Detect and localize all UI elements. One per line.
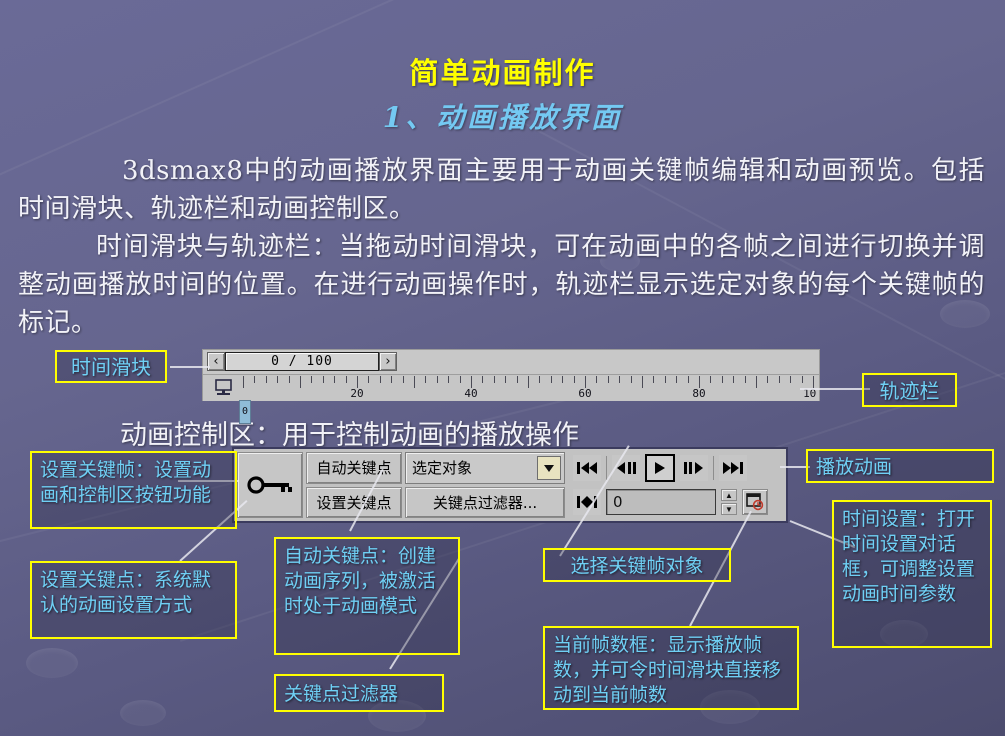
ruler-tick (756, 376, 757, 388)
paragraph-slider-track: 时间滑块与轨迹栏：当拖动时间滑块，可在动画中的各帧之间进行切换并调整动画播放时间… (18, 228, 985, 342)
ruler-tick (631, 376, 632, 383)
slide-canvas: 简单动画制作 1、动画播放界面 3dsmax8中的动画播放界面主要用于动画关键帧… (0, 0, 1005, 736)
ruler-tick (311, 376, 312, 383)
time-slider-next-arrow[interactable]: › (379, 352, 397, 371)
spinner-up-icon[interactable]: ▲ (721, 489, 737, 501)
ruler-tick (266, 376, 267, 383)
ruler-tick (688, 376, 689, 383)
ruler-tick (733, 376, 734, 383)
decor-bubble (26, 648, 78, 678)
callout-key-filters: 关键点过滤器 (274, 674, 444, 712)
time-slider-row[interactable]: ‹ 0 / 100 › (203, 350, 819, 374)
divider (606, 456, 607, 480)
callout-current-frame-box: 当前帧数框：显示播放帧数，并可令时间滑块直接移动到当前帧数 (543, 626, 799, 710)
ruler-tick (596, 376, 597, 383)
paragraph-intro: 3dsmax8中的动画播放界面主要用于动画关键帧编辑和动画预览。包括时间滑块、轨… (18, 152, 985, 228)
set-key-button[interactable]: 设置关键点 (306, 487, 402, 519)
set-keyframe-button[interactable] (237, 452, 303, 518)
decor-bubble (120, 700, 166, 726)
ruler-tick (539, 376, 540, 383)
key-target-controls[interactable]: 选定对象 关键点过滤器... (405, 452, 565, 518)
key-mode-buttons[interactable]: 自动关键点 设置关键点 (306, 452, 402, 518)
ruler-tick (323, 376, 324, 383)
ruler-tick (608, 376, 609, 383)
ruler-tick (448, 376, 449, 383)
ruler-tick (574, 376, 575, 383)
ruler-tick (403, 376, 404, 383)
ruler-tick (710, 376, 711, 383)
ruler-tick (745, 376, 746, 383)
ruler-tick-label: 40 (464, 387, 477, 400)
callout-track-bar: 轨迹栏 (862, 373, 957, 407)
track-bar-ruler[interactable]: 20406080100 (241, 375, 817, 401)
key-mode-toggle-icon[interactable] (573, 489, 601, 515)
ruler-tick (494, 376, 495, 383)
spinner-down-icon[interactable]: ▼ (721, 503, 737, 515)
ruler-tick (802, 376, 803, 383)
ruler-tick (334, 376, 335, 383)
ruler-tick (722, 376, 723, 383)
playback-transport-row[interactable] (573, 452, 783, 484)
ruler-tick-label: 80 (692, 387, 705, 400)
callout-time-settings: 时间设置：打开时间设置对话框，可调整设置动画时间参数 (832, 500, 992, 648)
divider (713, 456, 714, 480)
go-to-start-icon[interactable] (573, 455, 601, 481)
playback-controls[interactable]: 0 ▲ ▼ (568, 452, 783, 518)
track-bar[interactable]: 20406080100 0 (203, 374, 819, 401)
callout-time-slider: 时间滑块 (55, 350, 167, 383)
frame-field-row[interactable]: 0 ▲ ▼ (573, 487, 783, 519)
time-slider-and-track-bar[interactable]: ‹ 0 / 100 › 20406080100 0 (202, 349, 820, 401)
callout-select-keyframe-object: 选择关键帧对象 (543, 548, 731, 582)
ruler-tick (790, 376, 791, 383)
track-bar-frame-thumb[interactable]: 0 (239, 400, 251, 424)
time-slider-prev-arrow[interactable]: ‹ (207, 352, 225, 371)
go-to-end-icon[interactable] (719, 455, 747, 481)
ruler-tick (460, 376, 461, 383)
ruler-tick (551, 376, 552, 383)
page-title: 简单动画制作 (0, 50, 1005, 92)
current-frame-field[interactable]: 0 (606, 489, 716, 515)
ruler-tick (368, 376, 369, 383)
previous-frame-icon[interactable] (612, 455, 640, 481)
ruler-tick-label: 100 (803, 387, 817, 400)
ruler-tick (653, 376, 654, 383)
ruler-tick (277, 376, 278, 383)
ruler-tick (528, 376, 529, 388)
callout-set-key-point: 设置关键点：系统默认的动画设置方式 (30, 561, 237, 639)
ruler-tick (346, 376, 347, 383)
ruler-tick (767, 376, 768, 383)
ruler-tick (391, 376, 392, 383)
key-icon (247, 474, 293, 496)
ruler-tick (779, 376, 780, 383)
play-animation-button[interactable] (645, 454, 675, 482)
ruler-tick (517, 376, 518, 383)
callout-auto-key-point: 自动关键点：创建动画序列，被激活时处于动画模式 (274, 537, 460, 655)
ruler-tick (642, 376, 643, 388)
time-configuration-button[interactable] (742, 489, 768, 515)
monitor-icon (213, 378, 235, 398)
ruler-tick (414, 376, 415, 388)
ruler-tick (676, 376, 677, 383)
ruler-tick (562, 376, 563, 383)
animation-control-toolbar[interactable]: 自动关键点 设置关键点 选定对象 关键点过滤器... (232, 447, 788, 523)
ruler-tick (254, 376, 255, 383)
page-subtitle: 1、动画播放界面 (0, 96, 1005, 136)
ruler-tick (243, 376, 244, 388)
frame-spinner[interactable]: ▲ ▼ (721, 489, 737, 515)
time-configuration-icon (746, 493, 764, 511)
ruler-tick-label: 60 (578, 387, 591, 400)
ruler-tick (505, 376, 506, 383)
ruler-tick (665, 376, 666, 383)
key-filters-button[interactable]: 关键点过滤器... (405, 487, 565, 519)
callout-play-animation: 播放动画 (806, 449, 994, 483)
ruler-tick (289, 376, 290, 383)
chevron-down-icon[interactable] (537, 456, 561, 480)
time-slider-handle[interactable]: 0 / 100 (225, 352, 379, 371)
ruler-tick (619, 376, 620, 383)
callout-set-keyframe: 设置关键帧：设置动画和控制区按钮功能 (30, 451, 237, 529)
next-frame-icon[interactable] (680, 455, 708, 481)
auto-key-button[interactable]: 自动关键点 (306, 452, 402, 484)
key-target-dropdown[interactable]: 选定对象 (405, 452, 565, 484)
ruler-tick (380, 376, 381, 383)
key-target-dropdown-value: 选定对象 (406, 457, 472, 478)
ruler-tick (437, 376, 438, 383)
ruler-tick-label: 20 (350, 387, 363, 400)
ruler-tick (482, 376, 483, 383)
ruler-tick (425, 376, 426, 383)
ruler-tick (300, 376, 301, 388)
